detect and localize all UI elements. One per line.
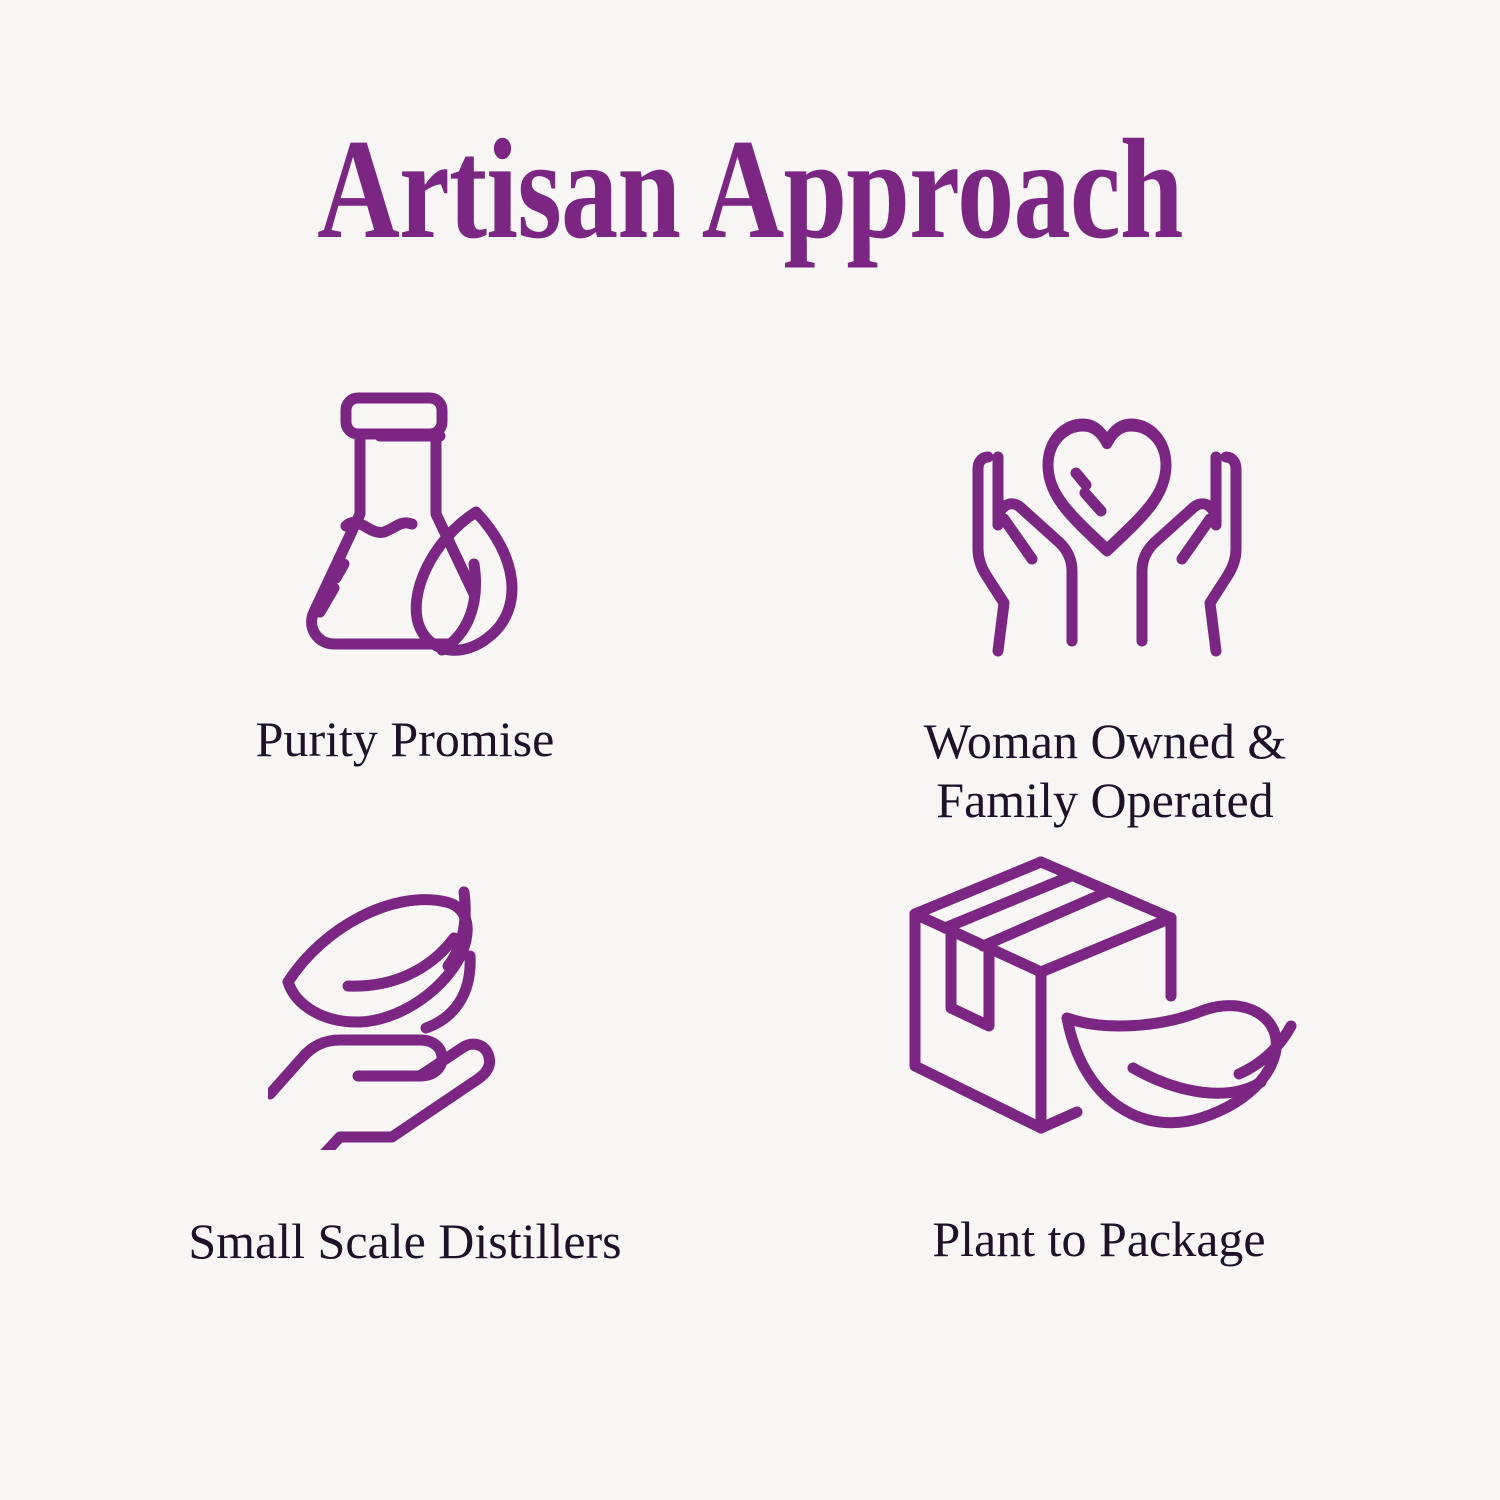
feature-item-purity-promise: Purity Promise: [60, 360, 750, 840]
page-title-wrap: Artisan Approach: [0, 118, 1500, 261]
feature-label-woman-owned: Woman Owned & Family Operated: [924, 712, 1287, 830]
feature-label-plant-to-package: Plant to Package: [932, 1210, 1265, 1269]
feature-label-small-scale-distillers: Small Scale Distillers: [188, 1212, 621, 1271]
feature-label-purity-promise: Purity Promise: [256, 710, 555, 769]
hand-holding-leaf-icon: [268, 860, 518, 1160]
flask-leaf-icon: [278, 374, 548, 674]
box-leaf-icon: [901, 852, 1301, 1152]
feature-item-woman-owned: Woman Owned & Family Operated: [750, 360, 1440, 840]
hands-holding-heart-icon: [952, 382, 1262, 682]
feature-item-plant-to-package: Plant to Package: [750, 840, 1440, 1320]
feature-item-small-scale-distillers: Small Scale Distillers: [60, 840, 750, 1320]
features-grid: Purity Promise: [60, 360, 1440, 1320]
page-title: Artisan Approach: [317, 118, 1182, 261]
artisan-approach-panel: Artisan Approach: [0, 0, 1500, 1500]
